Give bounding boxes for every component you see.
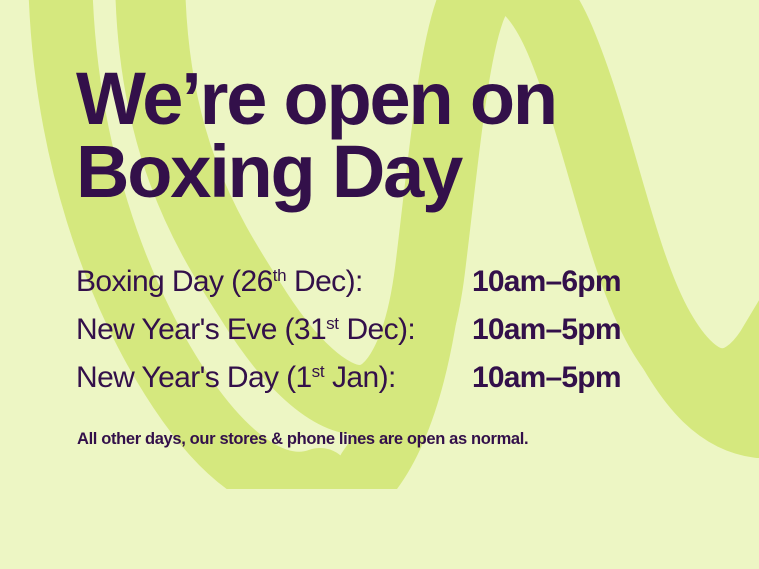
hours-label-boxing-day: Boxing Day (26th Dec): (76, 265, 472, 299)
list-item: New Year's Day (1st Jan): 10am–5pm (76, 361, 686, 409)
hours-label-ordinal: st (326, 314, 339, 333)
hours-label-new-years-day: New Year's Day (1st Jan): (76, 361, 472, 395)
hours-label-new-years-eve: New Year's Eve (31st Dec): (76, 313, 472, 347)
note-text: All other days, our stores & phone lines… (77, 430, 528, 449)
hours-label-main: New Year's Day (1 (76, 361, 312, 394)
hours-value-new-years-eve: 10am–5pm (472, 313, 621, 347)
hours-label-main: New Year's Eve (31 (76, 313, 326, 346)
page-title: We’re open on Boxing Day (76, 62, 696, 209)
opening-hours-list: Boxing Day (26th Dec): 10am–6pm New Year… (76, 265, 686, 409)
hours-label-rest: Jan): (324, 361, 395, 394)
hours-value-boxing-day: 10am–6pm (472, 265, 621, 299)
hours-label-ordinal: st (312, 362, 325, 381)
list-item: Boxing Day (26th Dec): 10am–6pm (76, 265, 686, 313)
hours-label-rest: Dec): (339, 313, 415, 346)
list-item: New Year's Eve (31st Dec): 10am–5pm (76, 313, 686, 361)
headline-line-1: We’re open on (76, 62, 696, 135)
promo-poster: We’re open on Boxing Day Boxing Day (26t… (0, 0, 759, 569)
hours-label-rest: Dec): (286, 265, 362, 298)
headline-line-2: Boxing Day (76, 135, 696, 208)
hours-label-ordinal: th (273, 266, 287, 285)
hours-value-new-years-day: 10am–5pm (472, 361, 621, 395)
hours-label-main: Boxing Day (26 (76, 265, 273, 298)
